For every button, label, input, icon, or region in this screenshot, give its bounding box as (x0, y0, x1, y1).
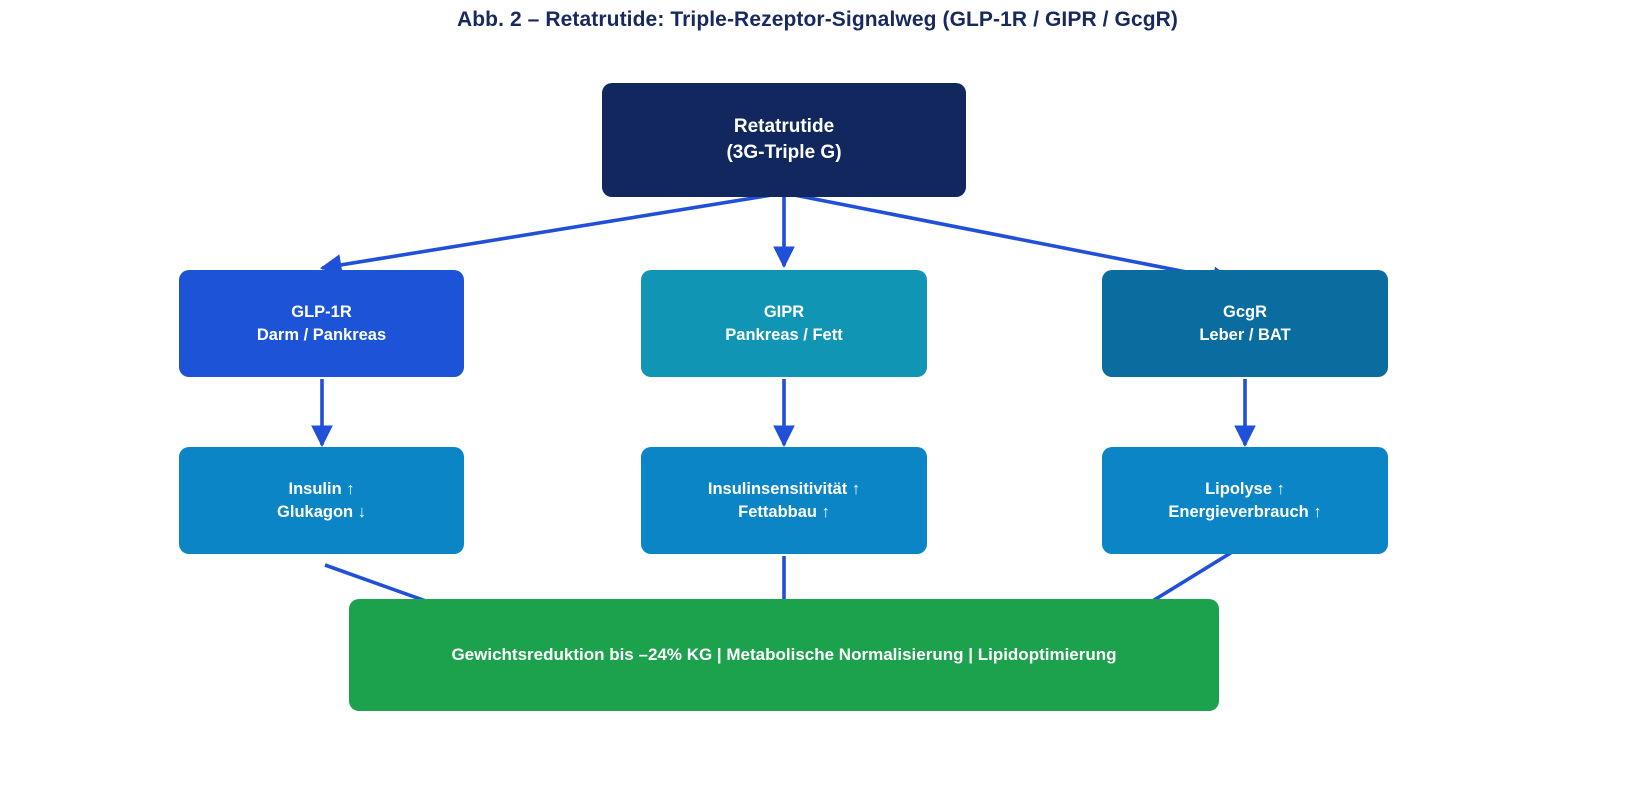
node-effect-lipolyse-energieverbrauch[interactable]: Lipolyse ↑ Energieverbrauch ↑ (1102, 447, 1388, 554)
node-gcgr[interactable]: GcgR Leber / BAT (1102, 270, 1388, 377)
node-outcome[interactable]: Gewichtsreduktion bis –24% KG | Metaboli… (349, 599, 1219, 711)
diagram-canvas: Abb. 2 – Retatrutide: Triple-Rezeptor-Si… (0, 0, 1635, 810)
node-outcome-label: Gewichtsreduktion bis –24% KG | Metaboli… (451, 643, 1116, 666)
edge-root-to-glp1r (322, 193, 784, 268)
node-effect-insulinsensitivitaet-fettabbau-label: Insulinsensitivität ↑ Fettabbau ↑ (708, 478, 860, 524)
node-effect-insulin-glukagon[interactable]: Insulin ↑ Glukagon ↓ (179, 447, 464, 554)
node-effect-insulin-glukagon-label: Insulin ↑ Glukagon ↓ (277, 478, 366, 524)
node-retatrutide[interactable]: Retatrutide (3G-Triple G) (602, 83, 966, 197)
node-glp1r-label: GLP-1R Darm / Pankreas (257, 301, 386, 347)
page-title: Abb. 2 – Retatrutide: Triple-Rezeptor-Si… (0, 8, 1635, 32)
node-gipr-label: GIPR Pankreas / Fett (725, 301, 842, 347)
node-effect-lipolyse-energieverbrauch-label: Lipolyse ↑ Energieverbrauch ↑ (1168, 478, 1321, 524)
edge-root-to-gcgr (784, 193, 1232, 281)
node-glp1r[interactable]: GLP-1R Darm / Pankreas (179, 270, 464, 377)
node-gcgr-label: GcgR Leber / BAT (1199, 301, 1290, 347)
node-effect-insulinsensitivitaet-fettabbau[interactable]: Insulinsensitivität ↑ Fettabbau ↑ (641, 447, 927, 554)
node-gipr[interactable]: GIPR Pankreas / Fett (641, 270, 927, 377)
node-retatrutide-label: Retatrutide (3G-Triple G) (726, 114, 841, 166)
